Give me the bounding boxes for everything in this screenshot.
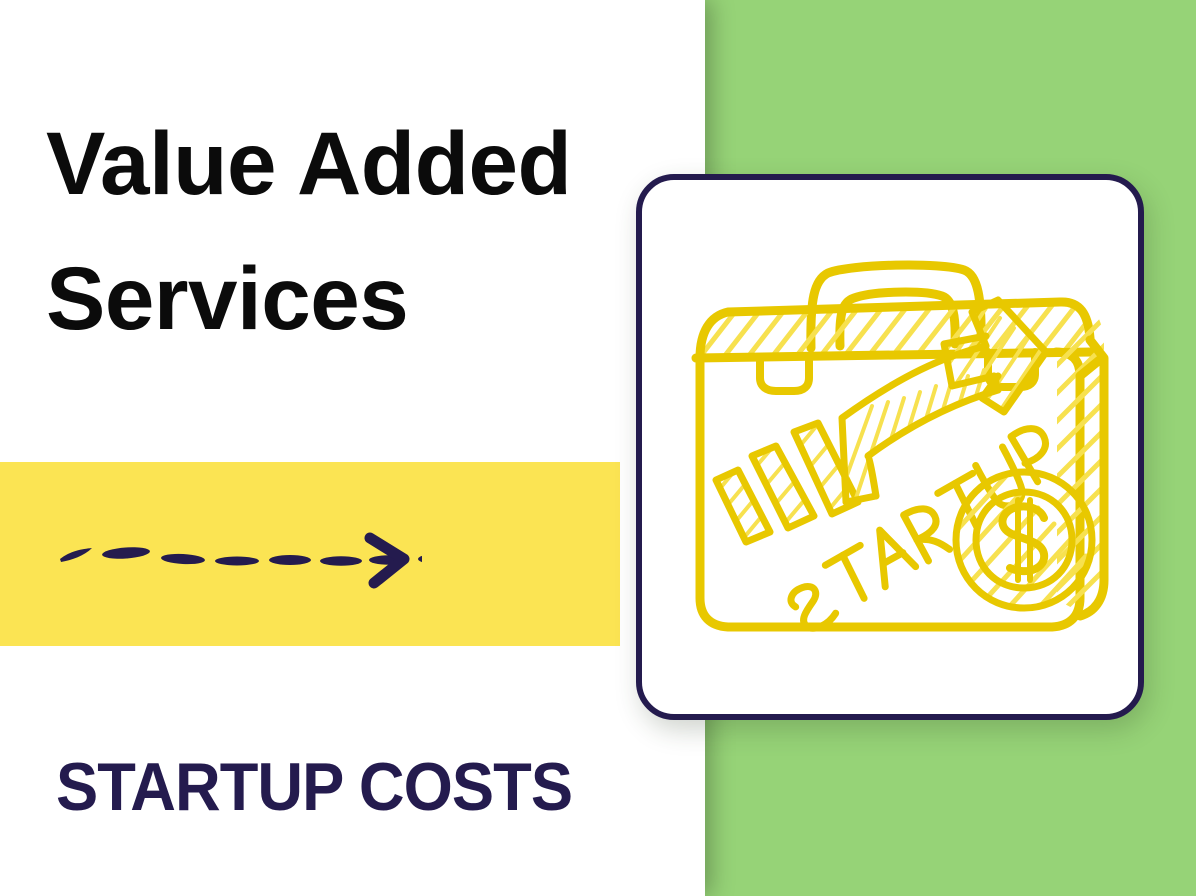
- page-title: Value Added Services: [46, 96, 646, 367]
- briefcase-icon: [642, 180, 1150, 726]
- footer-label: STARTUP COSTS: [56, 748, 572, 826]
- slide-canvas: Value Added Services STARTUP COSTS: [0, 0, 1196, 896]
- growth-bars: [702, 412, 884, 566]
- illustration-card: [636, 174, 1144, 720]
- dashed-arrow-right-icon: [52, 515, 422, 595]
- briefcase-lid: [682, 290, 1136, 380]
